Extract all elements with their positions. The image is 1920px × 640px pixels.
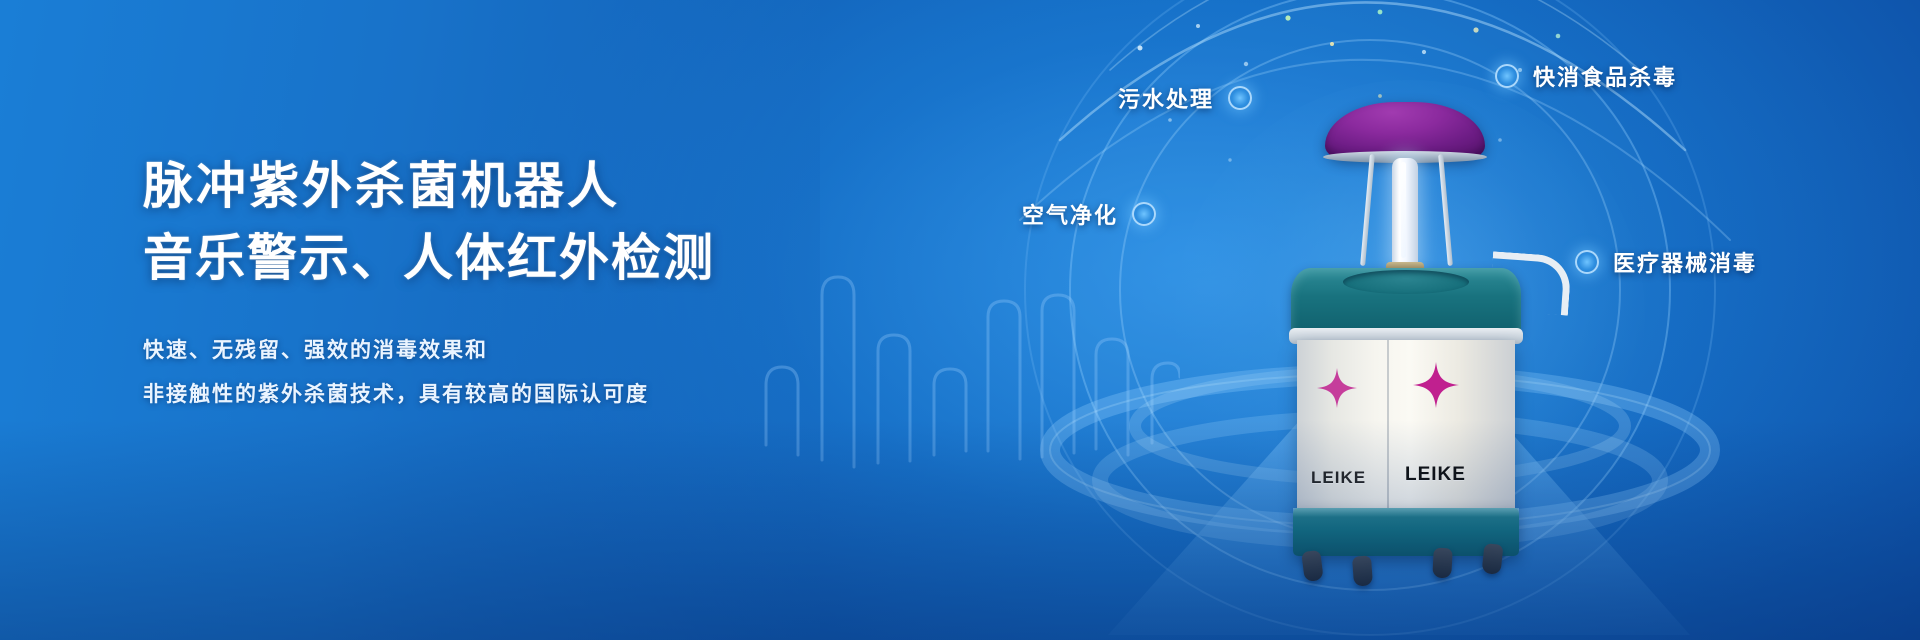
ring-dot-icon [1132, 202, 1156, 226]
ring-dot-icon [1228, 86, 1252, 110]
callout-food-label: 快消食品杀毒 [1533, 60, 1677, 92]
hero-banner: 脉冲紫外杀菌机器人 音乐警示、人体红外检测 快速、无残留、强效的消毒效果和 非接… [0, 0, 1920, 640]
hero-description: 快速、无残留、强效的消毒效果和 非接触性的紫外杀菌技术，具有较高的国际认可度 [143, 328, 863, 416]
uv-lamp-tube [1392, 158, 1418, 266]
body-corner-edge [1387, 340, 1389, 512]
lamp-support-strut [1438, 154, 1453, 266]
brand-wordmark: LEIKE [1311, 468, 1366, 488]
callout-food: 快消食品杀毒 [1495, 60, 1677, 92]
leike-star-logo-icon [1317, 368, 1357, 408]
ring-dot-icon [1495, 64, 1519, 88]
caster-wheel [1352, 555, 1373, 586]
page-title: 脉冲紫外杀菌机器人 [143, 150, 863, 222]
caster-wheel [1301, 550, 1324, 582]
description-line-1: 快速、无残留、强效的消毒效果和 [143, 328, 863, 372]
callout-wastewater-label: 污水处理 [1118, 82, 1214, 114]
leike-star-logo-icon [1413, 362, 1459, 408]
callout-medical-label: 医疗器械消毒 [1613, 246, 1757, 278]
brand-wordmark: LEIKE [1405, 464, 1466, 486]
caster-wheel [1481, 543, 1503, 575]
hero-copy: 脉冲紫外杀菌机器人 音乐警示、人体红外检测 快速、无残留、强效的消毒效果和 非接… [143, 150, 863, 416]
callout-medical: 医疗器械消毒 [1575, 246, 1757, 278]
teal-top-housing [1291, 268, 1521, 334]
callout-air: 空气净化 [1022, 198, 1156, 230]
background-bottom-shade [0, 420, 1920, 640]
lamp-support-strut [1360, 154, 1375, 266]
callout-wastewater: 污水处理 [1118, 82, 1252, 114]
pulsed-uv-disinfection-robot: LEIKE LEIKE [1255, 96, 1555, 586]
ring-dot-icon [1575, 250, 1599, 274]
callout-air-label: 空气净化 [1022, 198, 1118, 230]
page-subtitle: 音乐警示、人体红外检测 [143, 222, 863, 294]
description-line-2: 非接触性的紫外杀菌技术，具有较高的国际认可度 [143, 372, 863, 416]
caster-wheel [1432, 548, 1453, 579]
